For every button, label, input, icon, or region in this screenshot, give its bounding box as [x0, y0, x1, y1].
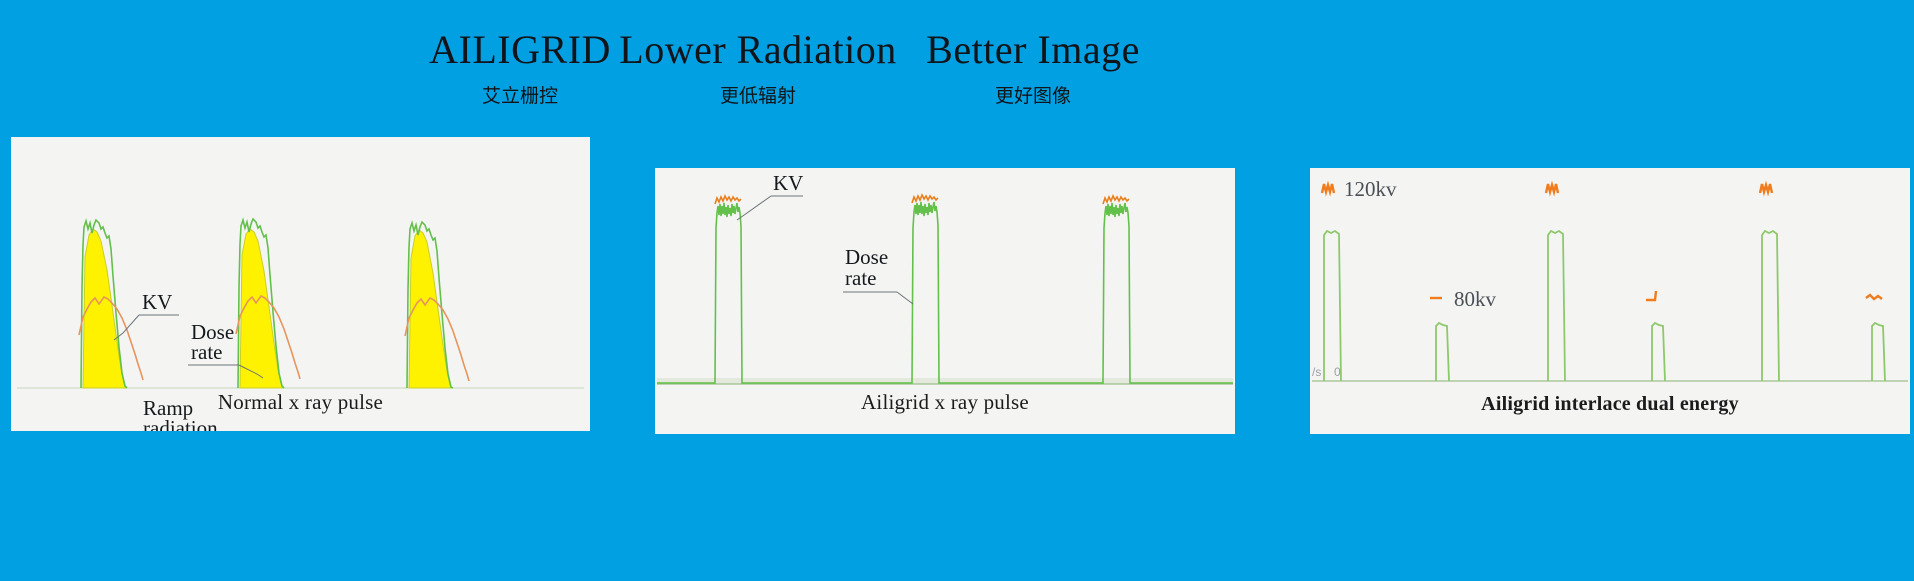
- header-cn-1: 更低辐射: [608, 82, 908, 110]
- dose-rate-pulse-1: [657, 203, 815, 383]
- caption-ailigrid-interlace-dual-energy: Ailigrid interlace dual energy: [1310, 393, 1910, 416]
- kv-120-marker-2: [1546, 184, 1558, 193]
- header-group-better-image: Better Image 更好图像: [888, 26, 1178, 110]
- dose-rate-high-pulse-2: [1548, 231, 1565, 381]
- dose-rate-pulse-3: [1015, 203, 1233, 383]
- annotation-dose-rate-label-line2: rate: [845, 266, 876, 290]
- chart-panel-ailigrid-x-ray-pulse: KV Dose rate Ailigrid x ray pulse: [655, 168, 1235, 434]
- dose-rate-high-pulse-3: [1762, 231, 1779, 381]
- chart-panel-normal-x-ray-pulse: KV Dose rate Ramp radiation: [11, 137, 590, 431]
- annotation-kv: KV: [737, 171, 803, 220]
- annotation-dose-rate-leader: [897, 292, 913, 304]
- header-en-1: Lower Radiation: [608, 26, 908, 74]
- annotation-kv: KV: [114, 290, 179, 340]
- kv-pulse-3: [1103, 196, 1129, 204]
- page-root: AILIGRID 艾立栅控 Lower Radiation 更低辐射 Bette…: [0, 0, 1914, 581]
- ramp-radiation-fill-2: [240, 229, 283, 388]
- chart-panel-ailigrid-interlace-dual-energy: /s 0 120kv 80kv Ailigrid interlace dual …: [1310, 168, 1910, 434]
- label-120kv: 120kv: [1344, 177, 1397, 201]
- kv-pulse-2: [912, 195, 938, 203]
- label-80kv: 80kv: [1454, 287, 1497, 311]
- chart-normal-x-ray-pulse: KV Dose rate Ramp radiation: [11, 137, 590, 431]
- kv-80-marker-2: [1646, 291, 1656, 300]
- caption-normal-x-ray-pulse: Normal x ray pulse: [11, 390, 590, 415]
- dose-rate-low-pulse-2: [1652, 323, 1665, 381]
- kv-120-marker-1: [1322, 184, 1334, 193]
- annotation-ramp-radiation-label-line2: radiation: [143, 416, 218, 431]
- annotation-dose-rate: Dose rate: [843, 245, 913, 304]
- axis-unit-label: /s: [1312, 365, 1321, 379]
- kv-80-marker-3: [1866, 295, 1882, 299]
- kv-pulse-1: [715, 196, 741, 204]
- kv-120-marker-3: [1760, 184, 1772, 193]
- ramp-radiation-fill-3: [409, 230, 452, 388]
- header-cn-2: 更好图像: [888, 82, 1178, 110]
- dose-rate-low-pulse-3: [1872, 323, 1885, 381]
- annotation-kv-label: KV: [773, 171, 803, 195]
- dose-rate-high-pulse-1: [1324, 231, 1341, 381]
- header-en-2: Better Image: [888, 26, 1178, 74]
- header: AILIGRID 艾立栅控 Lower Radiation 更低辐射 Bette…: [0, 26, 1914, 131]
- annotation-kv-leader: [737, 196, 771, 220]
- ramp-radiation-fill-1: [83, 229, 126, 388]
- header-group-lower-radiation: Lower Radiation 更低辐射: [608, 26, 908, 110]
- caption-ailigrid-x-ray-pulse: Ailigrid x ray pulse: [655, 390, 1235, 415]
- annotation-kv-label: KV: [142, 290, 172, 314]
- annotation-dose-rate-label-line2: rate: [191, 340, 222, 364]
- dose-rate-low-pulse-1: [1436, 323, 1449, 381]
